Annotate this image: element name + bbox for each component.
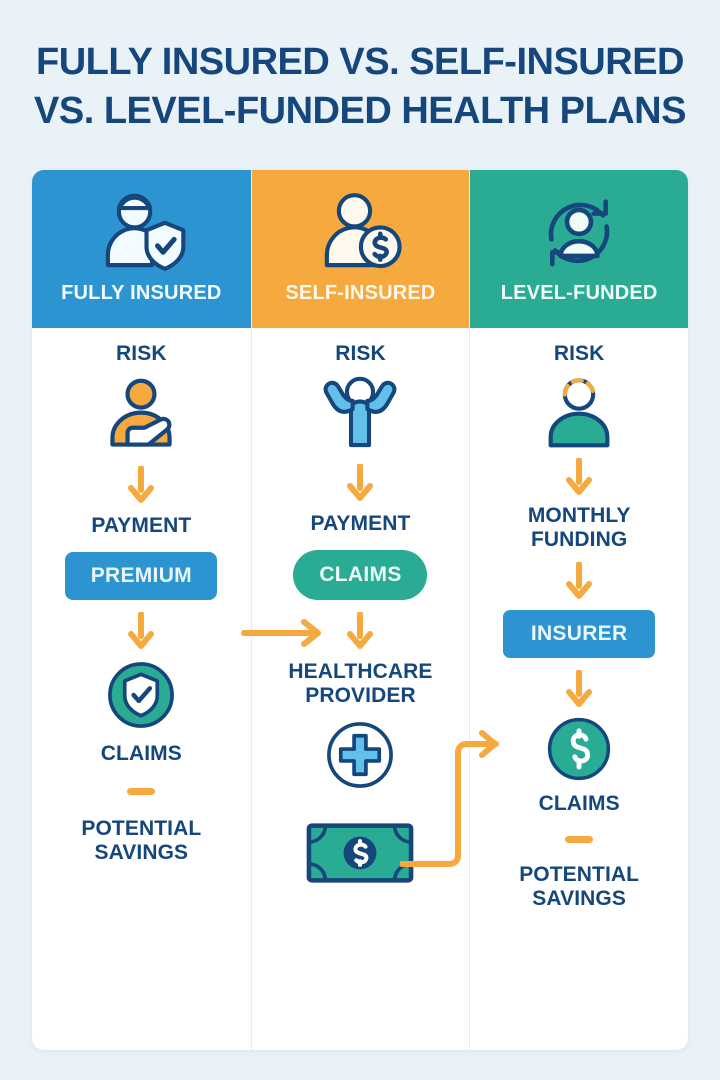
premium-box[interactable]: PREMIUM: [65, 552, 217, 600]
label-payment: PAYMENT: [311, 512, 411, 536]
banknote-dollar-icon: [305, 822, 415, 884]
column-header-fully-insured: FULLY INSURED: [32, 170, 251, 328]
potential-savings-line-2: SAVINGS: [81, 841, 201, 865]
infographic-page: FULLY INSURED VS. SELF-INSURED VS. LEVEL…: [0, 0, 720, 1080]
arrow-down-icon: [566, 458, 592, 496]
potential-savings-line-1: POTENTIAL: [81, 817, 201, 841]
column-header-label: SELF-INSURED: [285, 282, 435, 305]
column-header-label: FULLY INSURED: [61, 282, 221, 305]
column-body-fully-insured: RISK PAYMENT PREMIUM: [32, 328, 251, 1050]
monthly-funding-line-2: FUNDING: [528, 528, 631, 552]
premium-label: PREMIUM: [91, 564, 192, 588]
column-header-self-insured: SELF-INSURED: [252, 170, 470, 328]
healthcare-provider-line-2: PROVIDER: [288, 684, 432, 708]
arrow-down-icon: [566, 670, 592, 708]
label-monthly-funding: MONTHLY FUNDING: [528, 504, 631, 552]
shield-check-circle-icon: [104, 658, 178, 732]
label-potential-savings: POTENTIAL SAVINGS: [81, 817, 201, 865]
minus-dash-icon: [127, 788, 155, 795]
monthly-funding-line-1: MONTHLY: [528, 504, 631, 528]
healthcare-provider-line-1: HEALTHCARE: [288, 660, 432, 684]
person-refresh-cycle-icon: [533, 186, 625, 278]
column-body-level-funded: RISK MONTHLY FUNDING: [470, 328, 688, 1050]
claims-pill[interactable]: CLAIMS: [293, 550, 427, 600]
title-line-1: FULLY INSURED VS. SELF-INSURED: [20, 38, 700, 87]
column-level-funded: LEVEL-FUNDED RISK MONTHLY FUNDING: [469, 170, 688, 1050]
column-body-self-insured: RISK PAYMENT CLAIMS: [252, 328, 470, 1050]
claims-pill-label: CLAIMS: [319, 563, 401, 587]
page-title: FULLY INSURED VS. SELF-INSURED VS. LEVEL…: [0, 0, 720, 135]
label-claims: CLAIMS: [101, 742, 182, 766]
arrow-down-icon: [128, 466, 154, 504]
arrow-down-icon: [347, 612, 373, 650]
arrow-down-icon: [347, 464, 373, 502]
person-dollar-coin-icon: [314, 186, 406, 278]
person-arms-raised-icon: [315, 372, 405, 456]
arrow-down-icon: [128, 612, 154, 650]
person-shield-check-icon: [95, 186, 187, 278]
insurer-label: INSURER: [531, 622, 628, 646]
person-dashed-head-icon: [537, 372, 621, 452]
medical-cross-circle-icon: [323, 718, 397, 792]
label-risk: RISK: [335, 342, 386, 366]
label-payment: PAYMENT: [91, 514, 191, 538]
column-header-level-funded: LEVEL-FUNDED: [470, 170, 688, 328]
label-risk: RISK: [554, 342, 605, 366]
comparison-card: FULLY INSURED RISK PAYMENT: [32, 170, 688, 1050]
arrow-down-icon: [566, 562, 592, 600]
insurer-box[interactable]: INSURER: [503, 610, 655, 658]
potential-savings-line-2: SAVINGS: [519, 887, 639, 911]
label-potential-savings: POTENTIAL SAVINGS: [519, 863, 639, 911]
label-healthcare-provider: HEALTHCARE PROVIDER: [288, 660, 432, 708]
column-header-label: LEVEL-FUNDED: [501, 282, 658, 305]
label-claims: CLAIMS: [539, 792, 620, 816]
column-self-insured: SELF-INSURED RISK PAYMENT: [251, 170, 470, 1050]
label-risk: RISK: [116, 342, 167, 366]
potential-savings-line-1: POTENTIAL: [519, 863, 639, 887]
person-open-hand-icon: [99, 374, 183, 458]
column-fully-insured: FULLY INSURED RISK PAYMENT: [32, 170, 251, 1050]
title-line-2: VS. LEVEL-FUNDED HEALTH PLANS: [20, 87, 700, 136]
dollar-coin-circle-icon: [544, 714, 614, 784]
minus-dash-icon: [565, 836, 593, 843]
